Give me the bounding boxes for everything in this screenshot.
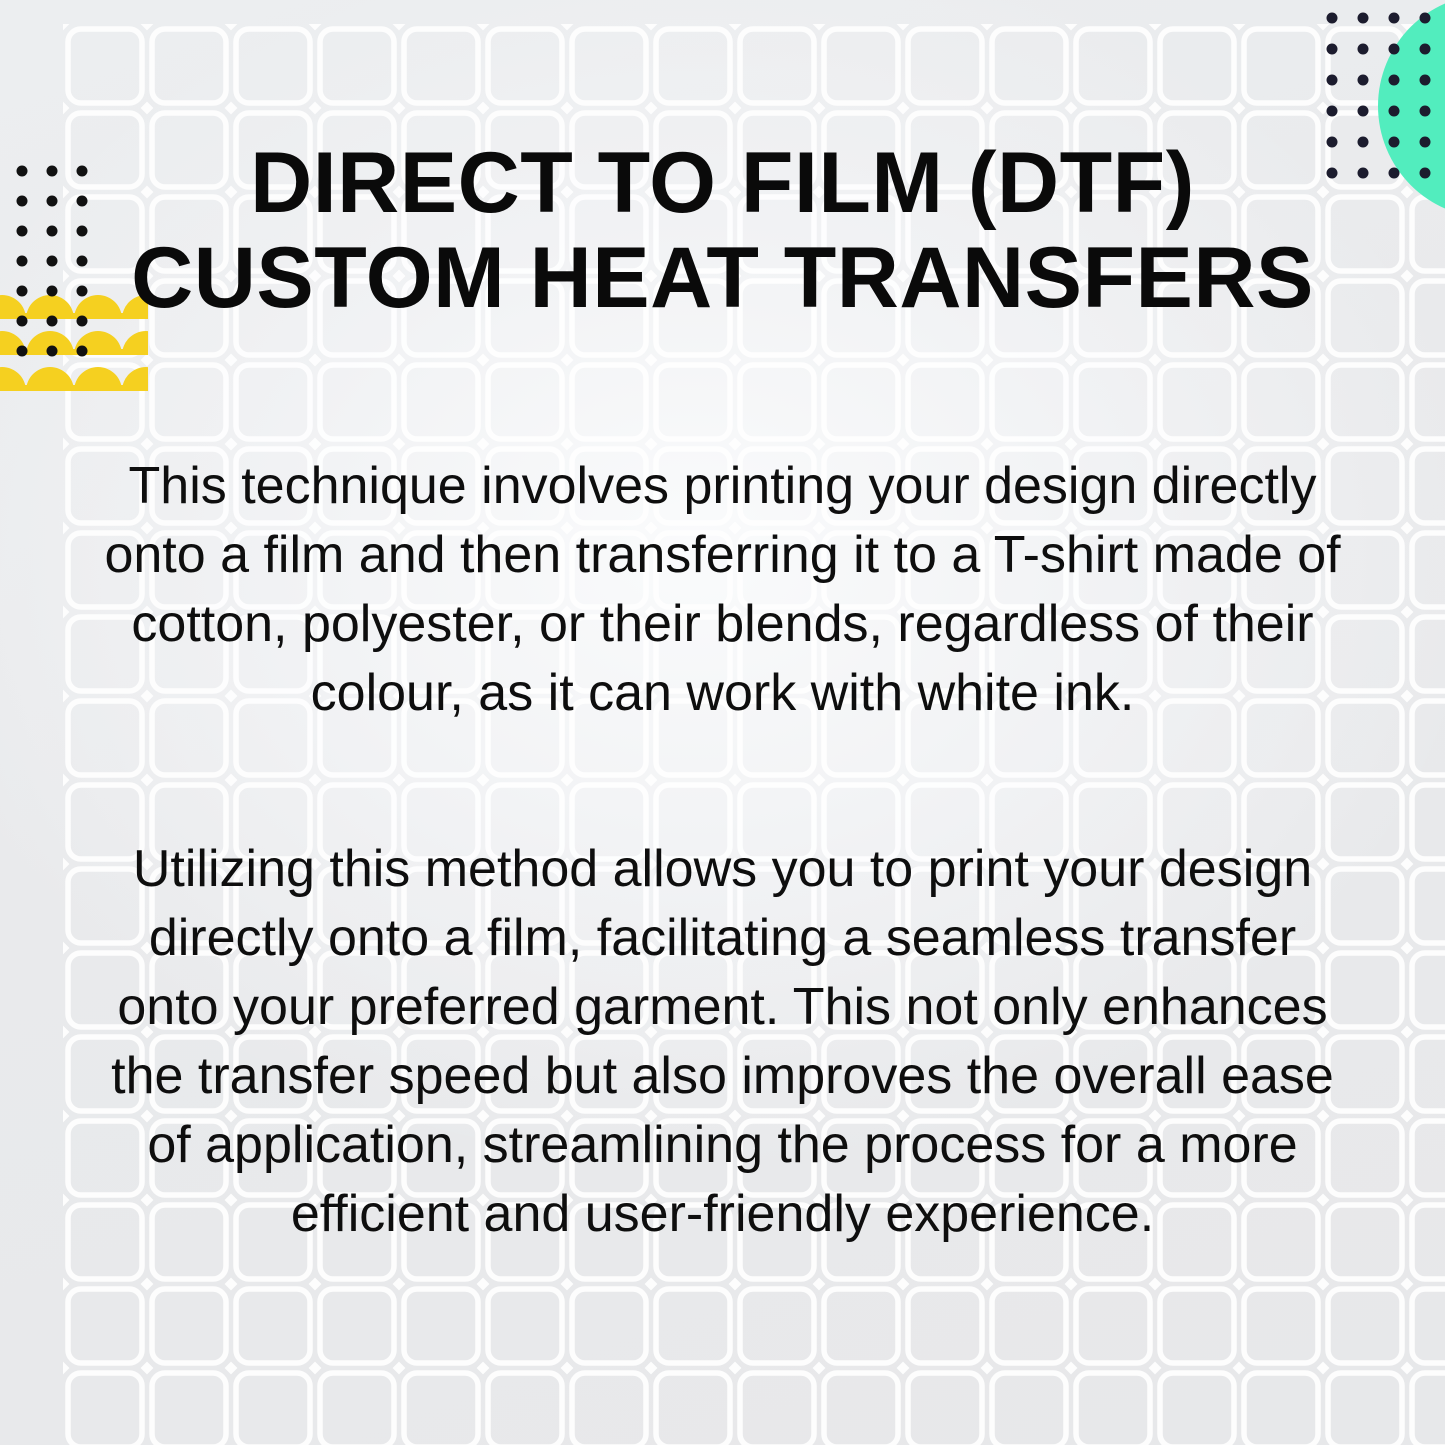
poster-content: DIRECT TO FILM (DTF) CUSTOM HEAT TRANSFE…	[0, 0, 1445, 1445]
poster-canvas: DIRECT TO FILM (DTF) CUSTOM HEAT TRANSFE…	[0, 0, 1445, 1445]
paragraph-1: This technique involves printing your de…	[96, 452, 1349, 728]
page-title: DIRECT TO FILM (DTF) CUSTOM HEAT TRANSFE…	[0, 136, 1445, 326]
body-copy: This technique involves printing your de…	[96, 452, 1349, 1249]
paragraph-2: Utilizing this method allows you to prin…	[96, 835, 1349, 1249]
title-line-1: DIRECT TO FILM (DTF)	[60, 136, 1385, 231]
title-line-2: CUSTOM HEAT TRANSFERS	[60, 231, 1385, 326]
